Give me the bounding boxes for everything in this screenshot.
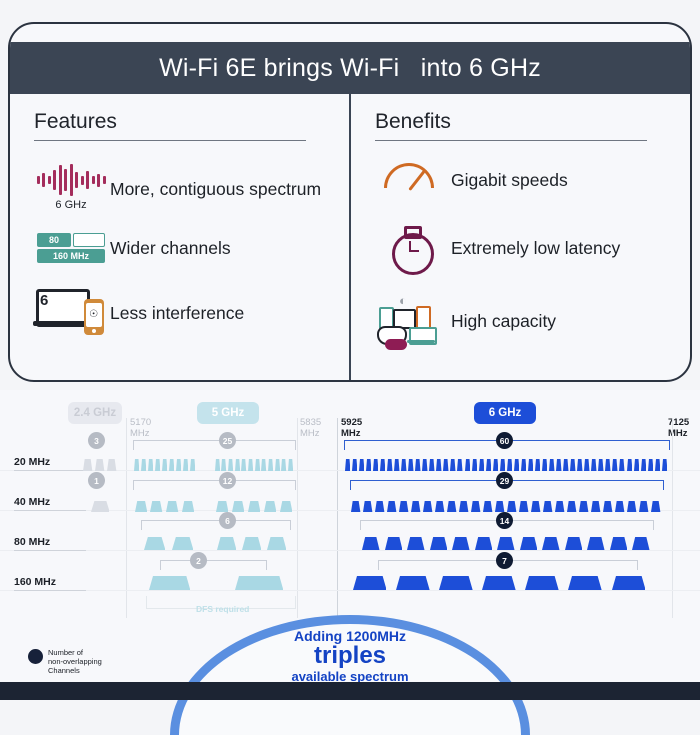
ch-6ghz-40mhz	[519, 499, 528, 510]
ch-6ghz-40mhz	[579, 499, 588, 510]
ch-6ghz-20mhz	[380, 458, 385, 470]
ch-6ghz-20mhz	[577, 458, 582, 470]
bracket-5ghz-40mhz	[133, 480, 296, 490]
ch-5ghz-20mhz-b	[221, 458, 226, 470]
ch-6ghz-20mhz	[373, 458, 378, 470]
spectrum-icon-caption: 6 GHz	[36, 199, 106, 211]
ch-6ghz-20mhz	[359, 458, 364, 470]
benefit-item-gigabit: Gigabit speeds	[373, 163, 690, 197]
ch-6ghz-80mhz	[520, 537, 538, 550]
speedometer-icon	[384, 163, 440, 197]
ch-6ghz-20mhz	[387, 458, 392, 470]
freq-mark-5925: 5925 MHz	[341, 417, 362, 439]
ch-5ghz-20mhz-a	[169, 458, 174, 470]
ch-5ghz-20mhz-b	[248, 458, 253, 470]
card-header: Wi-Fi 6E brings Wi-Fi into 6 GHz	[10, 42, 690, 94]
ch-6ghz-40mhz	[555, 499, 564, 510]
dfs-required-label: DFS required	[196, 604, 249, 614]
ch-6ghz-20mhz	[662, 458, 667, 470]
speedometer-icon-wrap	[373, 163, 451, 197]
ch-6ghz-80mhz	[497, 537, 515, 550]
ch-5ghz-20mhz-b	[255, 458, 260, 470]
ch-6ghz-20mhz	[605, 458, 610, 470]
ch-6ghz-40mhz	[459, 499, 468, 510]
legend-dot-icon	[28, 649, 43, 664]
ch-6ghz-20mhz	[655, 458, 660, 470]
ch-6ghz-20mhz	[591, 458, 596, 470]
ch-6ghz-40mhz	[411, 499, 420, 510]
ch-6ghz-80mhz	[632, 537, 650, 550]
ch-6ghz-20mhz	[514, 458, 519, 470]
stopwatch-hour-hand	[410, 250, 419, 252]
wifi6-glyph: 6	[40, 292, 48, 309]
feature-label-less-interference: Less interference	[110, 303, 244, 324]
bracket-5ghz-20mhz	[133, 440, 296, 450]
feature-item-spectrum: 6 GHz More, contiguous spectrum	[32, 163, 349, 215]
laptop-base	[33, 321, 89, 326]
ch-6ghz-40mhz	[387, 499, 396, 510]
ch-6ghz-40mhz	[483, 499, 492, 510]
ch-6ghz-20mhz	[528, 458, 533, 470]
spectrum-icon: 6 GHz	[36, 163, 106, 215]
benefit-label-latency: Extremely low latency	[451, 238, 620, 259]
ch-5ghz-20mhz-b	[215, 458, 220, 470]
rowline-160	[0, 590, 700, 591]
ch-6ghz-20mhz	[619, 458, 624, 470]
channel-160-badge: 160 MHz	[37, 249, 105, 263]
ch-6ghz-40mhz	[351, 499, 360, 510]
ch-5ghz-20mhz-a	[183, 458, 188, 470]
ch-6ghz-40mhz	[423, 499, 432, 510]
ch-6ghz-20mhz	[352, 458, 357, 470]
wider-channels-icon-wrap: 80 160 MHz	[32, 233, 110, 263]
feature-item-less-interference: 6 ☉ Less interference	[32, 285, 349, 341]
ch-6ghz-20mhz	[422, 458, 427, 470]
ch-6ghz-20mhz	[450, 458, 455, 470]
ch-5ghz-40mhz-a	[135, 499, 147, 510]
badge-6ghz-20mhz: 60	[496, 432, 513, 449]
ch-5ghz-20mhz-b	[268, 458, 273, 470]
benefits-column: Benefits Gigabit speeds	[351, 94, 690, 382]
legend-line-2: non-overlapping	[48, 657, 102, 666]
ch-6ghz-20mhz	[457, 458, 462, 470]
ch-5ghz-20mhz-a	[148, 458, 153, 470]
phone-home-dot	[92, 329, 96, 333]
benefit-label-gigabit: Gigabit speeds	[451, 170, 568, 191]
ch-6ghz-20mhz	[408, 458, 413, 470]
ch-5ghz-20mhz-b	[235, 458, 240, 470]
ch-6ghz-20mhz	[415, 458, 420, 470]
ch-24ghz-20mhz	[83, 458, 92, 470]
badge-5ghz-160mhz: 2	[190, 552, 207, 569]
ch-5ghz-160mhz-b	[235, 576, 283, 590]
feature-label-wider-channels: Wider channels	[110, 238, 231, 259]
row-label-40mhz-text: 40 MHz	[14, 496, 50, 508]
bottom-bar	[0, 682, 700, 700]
features-list: 6 GHz More, contiguous spectrum 80	[32, 163, 349, 341]
ch-6ghz-20mhz	[345, 458, 350, 470]
ch-6ghz-40mhz	[495, 499, 504, 510]
ch-5ghz-80mhz-b	[267, 537, 287, 550]
ch-6ghz-20mhz	[401, 458, 406, 470]
features-column: Features	[10, 94, 351, 382]
channel-80-empty	[73, 233, 105, 247]
ch-6ghz-20mhz	[507, 458, 512, 470]
callout-line-2: triples	[170, 642, 530, 670]
freq-5925-value: 5925	[341, 417, 362, 428]
ch-6ghz-20mhz	[521, 458, 526, 470]
legend-text: Number of non-overlapping Channels	[48, 648, 102, 675]
ch-6ghz-20mhz	[366, 458, 371, 470]
gauge-arc	[384, 163, 434, 188]
devices-icon: ◐	[375, 293, 449, 349]
ch-6ghz-20mhz	[479, 458, 484, 470]
stopwatch-icon	[387, 223, 437, 273]
ch-6ghz-40mhz	[591, 499, 600, 510]
bracket-5ghz-80mhz	[141, 520, 291, 530]
ch-6ghz-20mhz	[627, 458, 632, 470]
ch-5ghz-20mhz-a	[190, 458, 195, 470]
ch-6ghz-40mhz	[399, 499, 408, 510]
ch-6ghz-40mhz	[363, 499, 372, 510]
band-pill-6ghz[interactable]: 6 GHz	[474, 402, 536, 424]
ch-5ghz-20mhz-a	[176, 458, 181, 470]
ch-6ghz-20mhz	[542, 458, 547, 470]
ch-6ghz-80mhz	[542, 537, 560, 550]
less-interference-icon-wrap: 6 ☉	[32, 285, 110, 341]
channel-80-badge: 80	[37, 233, 71, 247]
ch-6ghz-40mhz	[651, 499, 660, 510]
ch-5ghz-80mhz-a	[172, 537, 193, 550]
ch-5ghz-20mhz-b	[241, 458, 246, 470]
legend-line-1: Number of	[48, 648, 102, 657]
callout-text: Adding 1200MHz triples available spectru…	[170, 628, 530, 684]
badge-6ghz-40mhz: 29	[496, 472, 513, 489]
freq-5835-value: 5835	[300, 417, 321, 428]
ch-5ghz-40mhz-b	[280, 499, 292, 510]
infographic-root: Wi-Fi 6E brings Wi-Fi into 6 GHz Feature…	[0, 0, 700, 700]
ch-6ghz-160mhz	[439, 576, 473, 590]
badge-5ghz-20mhz: 25	[219, 432, 236, 449]
ch-5ghz-40mhz-a	[166, 499, 178, 510]
badge-6ghz-160mhz: 7	[496, 552, 513, 569]
ch-6ghz-160mhz	[568, 576, 602, 590]
row-label-20mhz: 20 MHz	[14, 456, 86, 471]
ch-6ghz-20mhz	[493, 458, 498, 470]
ch-6ghz-40mhz	[567, 499, 576, 510]
ch-6ghz-40mhz	[603, 499, 612, 510]
ch-6ghz-40mhz	[531, 499, 540, 510]
ch-6ghz-80mhz	[385, 537, 403, 550]
ch-5ghz-40mhz-a	[182, 499, 194, 510]
ch-6ghz-40mhz	[543, 499, 552, 510]
ch-6ghz-20mhz	[443, 458, 448, 470]
ch-6ghz-40mhz	[471, 499, 480, 510]
ch-6ghz-20mhz	[641, 458, 646, 470]
ch-5ghz-80mhz-b	[242, 537, 262, 550]
ch-6ghz-80mhz	[565, 537, 583, 550]
feature-item-wider-channels: 80 160 MHz Wider channels	[32, 233, 349, 263]
ch-6ghz-20mhz	[584, 458, 589, 470]
ch-6ghz-20mhz	[612, 458, 617, 470]
ch-6ghz-160mhz	[612, 576, 646, 590]
ch-5ghz-20mhz-a	[141, 458, 146, 470]
ch-5ghz-20mhz-a	[155, 458, 160, 470]
ch-6ghz-20mhz	[486, 458, 491, 470]
row-label-160mhz-text: 160 MHz	[14, 576, 56, 588]
ch-6ghz-20mhz	[500, 458, 505, 470]
badge-6ghz-80mhz: 14	[496, 512, 513, 529]
ch-6ghz-40mhz	[615, 499, 624, 510]
freq-mark-5170: 5170 MHz	[130, 417, 151, 439]
spectrum-bars	[36, 163, 106, 197]
ch-24ghz-20mhz	[95, 458, 104, 470]
ch-6ghz-80mhz	[587, 537, 605, 550]
top-margin	[0, 0, 700, 20]
ch-5ghz-20mhz-b	[288, 458, 293, 470]
ch-24ghz-20mhz	[107, 458, 116, 470]
ch-6ghz-40mhz	[447, 499, 456, 510]
ch-6ghz-20mhz	[465, 458, 470, 470]
spectrum-icon-wrap: 6 GHz	[32, 163, 110, 215]
benefits-heading: Benefits	[375, 110, 690, 134]
freq-mark-5835: 5835 MHz	[300, 417, 321, 439]
ch-5ghz-40mhz-b	[232, 499, 244, 510]
ch-6ghz-80mhz	[610, 537, 628, 550]
less-interference-icon: 6 ☉	[34, 285, 108, 341]
ch-6ghz-20mhz	[472, 458, 477, 470]
badge-5ghz-40mhz: 12	[219, 472, 236, 489]
feature-label-spectrum: More, contiguous spectrum	[110, 179, 321, 200]
ch-6ghz-80mhz	[475, 537, 493, 550]
legend-line-3: Channels	[48, 666, 102, 675]
page-title: Wi-Fi 6E brings Wi-Fi into 6 GHz	[159, 54, 541, 83]
ch-6ghz-20mhz	[648, 458, 653, 470]
benefit-label-capacity: High capacity	[451, 311, 556, 332]
ch-6ghz-40mhz	[507, 499, 516, 510]
features-rule	[34, 140, 306, 141]
ch-5ghz-20mhz-b	[261, 458, 266, 470]
benefit-item-latency: Extremely low latency	[373, 223, 690, 273]
bracket-5ghz-160mhz	[160, 560, 267, 570]
ch-6ghz-20mhz	[634, 458, 639, 470]
ch-6ghz-20mhz	[394, 458, 399, 470]
wifi-signal-icon: ◐	[399, 293, 407, 308]
ch-5ghz-40mhz-b	[264, 499, 276, 510]
ch-5ghz-40mhz-a	[150, 499, 162, 510]
benefits-list: Gigabit speeds Extremely low latency	[373, 163, 690, 349]
channel-rows: 20 MHz 40 MHz 80 MHz 160 MHz 3 25 60 1 1…	[0, 438, 700, 603]
ch-6ghz-40mhz	[435, 499, 444, 510]
card-columns: Features	[10, 94, 690, 382]
band-pill-5ghz[interactable]: 5 GHz	[197, 402, 259, 424]
ch-6ghz-20mhz	[429, 458, 434, 470]
ch-5ghz-20mhz-b	[228, 458, 233, 470]
row-label-80mhz: 80 MHz	[14, 536, 86, 551]
ch-5ghz-40mhz-b	[216, 499, 228, 510]
wider-channels-icon: 80 160 MHz	[37, 233, 105, 263]
ch-5ghz-20mhz-a	[134, 458, 139, 470]
ch-6ghz-160mhz	[525, 576, 559, 590]
ch-6ghz-160mhz	[353, 576, 387, 590]
ch-6ghz-80mhz	[362, 537, 380, 550]
ch-6ghz-40mhz	[627, 499, 636, 510]
row-label-80mhz-text: 80 MHz	[14, 536, 50, 548]
phone-signal-glyph: ☉	[89, 309, 98, 320]
chart-legend: Number of non-overlapping Channels	[28, 648, 102, 675]
ch-6ghz-80mhz	[407, 537, 425, 550]
features-heading: Features	[34, 110, 349, 134]
band-pill-2-4ghz[interactable]: 2.4 GHz	[68, 402, 122, 424]
ch-6ghz-40mhz	[375, 499, 384, 510]
channel-80-row: 80	[37, 233, 105, 247]
ch-6ghz-40mhz	[639, 499, 648, 510]
rowline-80	[0, 550, 700, 551]
device-gamepad	[385, 339, 407, 350]
badge-5ghz-80mhz: 6	[219, 512, 236, 529]
ch-6ghz-20mhz	[535, 458, 540, 470]
device-phone-orange	[416, 306, 431, 329]
ch-6ghz-160mhz	[396, 576, 430, 590]
ch-6ghz-20mhz	[556, 458, 561, 470]
ch-5ghz-40mhz-b	[248, 499, 260, 510]
stopwatch-icon-wrap	[373, 223, 451, 273]
ch-6ghz-20mhz	[563, 458, 568, 470]
ch-5ghz-80mhz-a	[144, 537, 165, 550]
badge-24ghz-20mhz: 3	[88, 432, 105, 449]
features-benefits-card: Wi-Fi 6E brings Wi-Fi into 6 GHz Feature…	[8, 22, 692, 382]
ch-6ghz-20mhz	[570, 458, 575, 470]
devices-icon-wrap: ◐	[373, 293, 451, 349]
ch-6ghz-80mhz	[452, 537, 470, 550]
ch-5ghz-160mhz-a	[149, 576, 190, 590]
row-label-40mhz: 40 MHz	[14, 496, 86, 511]
ch-6ghz-20mhz	[598, 458, 603, 470]
row-label-160mhz: 160 MHz	[14, 576, 86, 591]
ch-5ghz-80mhz-b	[217, 537, 237, 550]
row-label-20mhz-text: 20 MHz	[14, 456, 50, 468]
ch-5ghz-20mhz-b	[275, 458, 280, 470]
device-laptop-base	[407, 340, 435, 343]
ch-6ghz-160mhz	[482, 576, 516, 590]
band-row: 2.4 GHz 5 GHz 6 GHz 5170 MHz 5835 MHz 59…	[0, 402, 700, 430]
ch-5ghz-20mhz-a	[162, 458, 167, 470]
ch-6ghz-80mhz	[430, 537, 448, 550]
ch-6ghz-20mhz	[436, 458, 441, 470]
ch-6ghz-20mhz	[549, 458, 554, 470]
freq-5170-value: 5170	[130, 417, 151, 428]
stopwatch-body	[392, 233, 434, 275]
ch-24ghz-40mhz	[91, 499, 110, 510]
badge-24ghz-40mhz: 1	[88, 472, 105, 489]
benefits-rule	[375, 140, 647, 141]
benefit-item-capacity: ◐ High capacity	[373, 293, 690, 349]
ch-5ghz-20mhz-b	[281, 458, 286, 470]
